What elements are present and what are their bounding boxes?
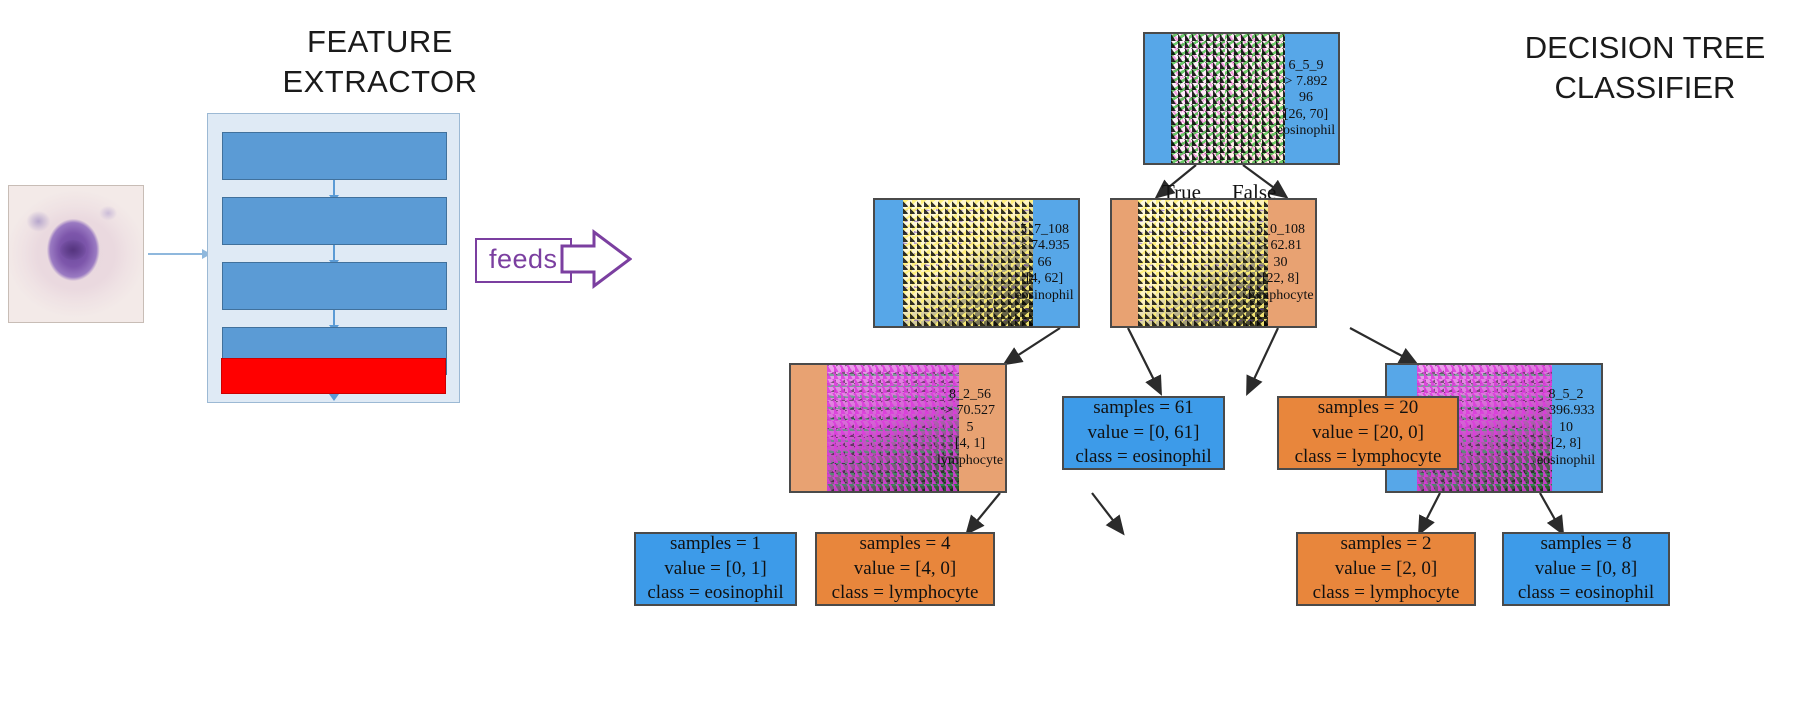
right-class: lymphocyte [1247,288,1313,304]
root-class: eosinophil [1277,123,1335,139]
leaf-e-class: class = lymphocyte [1313,581,1460,606]
leaf-f-value: value = [0, 8] [1535,557,1638,582]
leaf-b-value: value = [4, 0] [854,557,957,582]
right-feature: 5_0_108 [1256,222,1305,238]
feature-extractor-title: FEATURE EXTRACTOR [215,22,545,101]
right-value: [22, 8] [1262,271,1299,287]
cnn-layer-1 [222,132,447,180]
leaf-c-class: class = eosinophil [1075,445,1211,470]
leaf-a-samples: samples = 1 [670,532,761,557]
left-left-class: lymphocyte [937,453,1003,469]
cnn-layer-3 [222,262,447,310]
left-class: eosinophil [1015,288,1073,304]
feature-extractor-title-line2: EXTRACTOR [215,62,545,102]
diagram-canvas: FEATURE EXTRACTOR feeds DECISION TREE CL… [0,0,1800,707]
right-right-value: [2, 8] [1551,436,1581,452]
cnn-layer-2 [222,197,447,245]
feature-extractor-title-line1: FEATURE [215,22,545,62]
tree-leaf-c[interactable]: samples = 61 value = [0, 61] class = eos… [1062,396,1225,470]
left-samples: 66 [1038,255,1052,271]
node-thumbnail-root [1171,34,1285,163]
tree-leaf-e[interactable]: samples = 2 value = [2, 0] class = lymph… [1296,532,1476,606]
tree-node-root-text: 6_5_9 > 7.892 96 [26, 70] eosinophil [1276,34,1336,163]
cell-nucleus [60,240,86,260]
tree-node-left-left[interactable]: 8_2_56 > 70.527 5 [4, 1] lymphocyte [789,363,1007,493]
root-value: [26, 70] [1284,107,1328,123]
leaf-c-samples: samples = 61 [1093,396,1193,421]
leaf-d-samples: samples = 20 [1318,396,1418,421]
root-feature: 6_5_9 [1289,58,1324,74]
cnn-output-layer [221,358,446,394]
leaf-c-value: value = [0, 61] [1087,421,1199,446]
tree-leaf-a[interactable]: samples = 1 value = [0, 1] class = eosin… [634,532,797,606]
tree-leaf-d[interactable]: samples = 20 value = [20, 0] class = lym… [1277,396,1459,470]
right-samples: 30 [1274,255,1288,271]
right-right-threshold: > 396.933 [1538,403,1595,419]
leaf-f-samples: samples = 8 [1541,532,1632,557]
left-left-threshold: > 70.527 [945,403,995,419]
leaf-d-class: class = lymphocyte [1295,445,1442,470]
left-value: [4, 62] [1026,271,1063,287]
layer-connector-1-icon [333,180,335,196]
tree-node-root[interactable]: 6_5_9 > 7.892 96 [26, 70] eosinophil [1143,32,1340,165]
leaf-a-class: class = eosinophil [647,581,783,606]
left-feature: 5_7_108 [1020,222,1069,238]
leaf-a-value: value = [0, 1] [664,557,767,582]
right-threshold: > 62.81 [1259,238,1302,254]
root-threshold: > 7.892 [1285,74,1328,90]
left-left-samples: 5 [967,420,974,436]
tree-node-left-text: 5_7_108 > 74.935 66 [4, 62] eosinophil [1013,200,1076,326]
right-right-feature: 8_5_2 [1549,387,1584,403]
tree-node-right-text: 5_0_108 > 62.81 30 [22, 8] lymphocyte [1248,200,1313,326]
tree-leaf-b[interactable]: samples = 4 value = [4, 0] class = lymph… [815,532,995,606]
input-arrow-icon [148,253,210,255]
tree-node-right-right-text: 8_5_2 > 396.933 10 [2, 8] eosinophil [1533,365,1599,491]
classifier-title: DECISION TREE CLASSIFIER [1495,28,1795,107]
root-samples: 96 [1299,90,1313,106]
feeds-label: feeds [475,238,572,283]
layer-connector-3-icon [333,310,335,326]
leaf-e-value: value = [2, 0] [1335,557,1438,582]
tree-node-left-left-text: 8_2_56 > 70.527 5 [4, 1] lymphocyte [939,365,1001,491]
leaf-b-samples: samples = 4 [860,532,951,557]
leaf-e-samples: samples = 2 [1341,532,1432,557]
right-right-samples: 10 [1559,420,1573,436]
leaf-b-class: class = lymphocyte [832,581,979,606]
tree-node-right[interactable]: 5_0_108 > 62.81 30 [22, 8] lymphocyte [1110,198,1317,328]
classifier-title-line1: DECISION TREE [1495,28,1795,68]
classifier-title-line2: CLASSIFIER [1495,68,1795,108]
right-right-class: eosinophil [1537,453,1595,469]
left-threshold: > 74.935 [1020,238,1070,254]
left-left-value: [4, 1] [955,436,985,452]
left-left-feature: 8_2_56 [949,387,991,403]
tree-node-left[interactable]: 5_7_108 > 74.935 66 [4, 62] eosinophil [873,198,1080,328]
blood-cell-image [8,185,144,323]
feeds-chevron-icon [560,228,632,290]
leaf-d-value: value = [20, 0] [1312,421,1424,446]
tree-leaf-f[interactable]: samples = 8 value = [0, 8] class = eosin… [1502,532,1670,606]
layer-connector-2-icon [333,245,335,261]
leaf-f-class: class = eosinophil [1518,581,1654,606]
